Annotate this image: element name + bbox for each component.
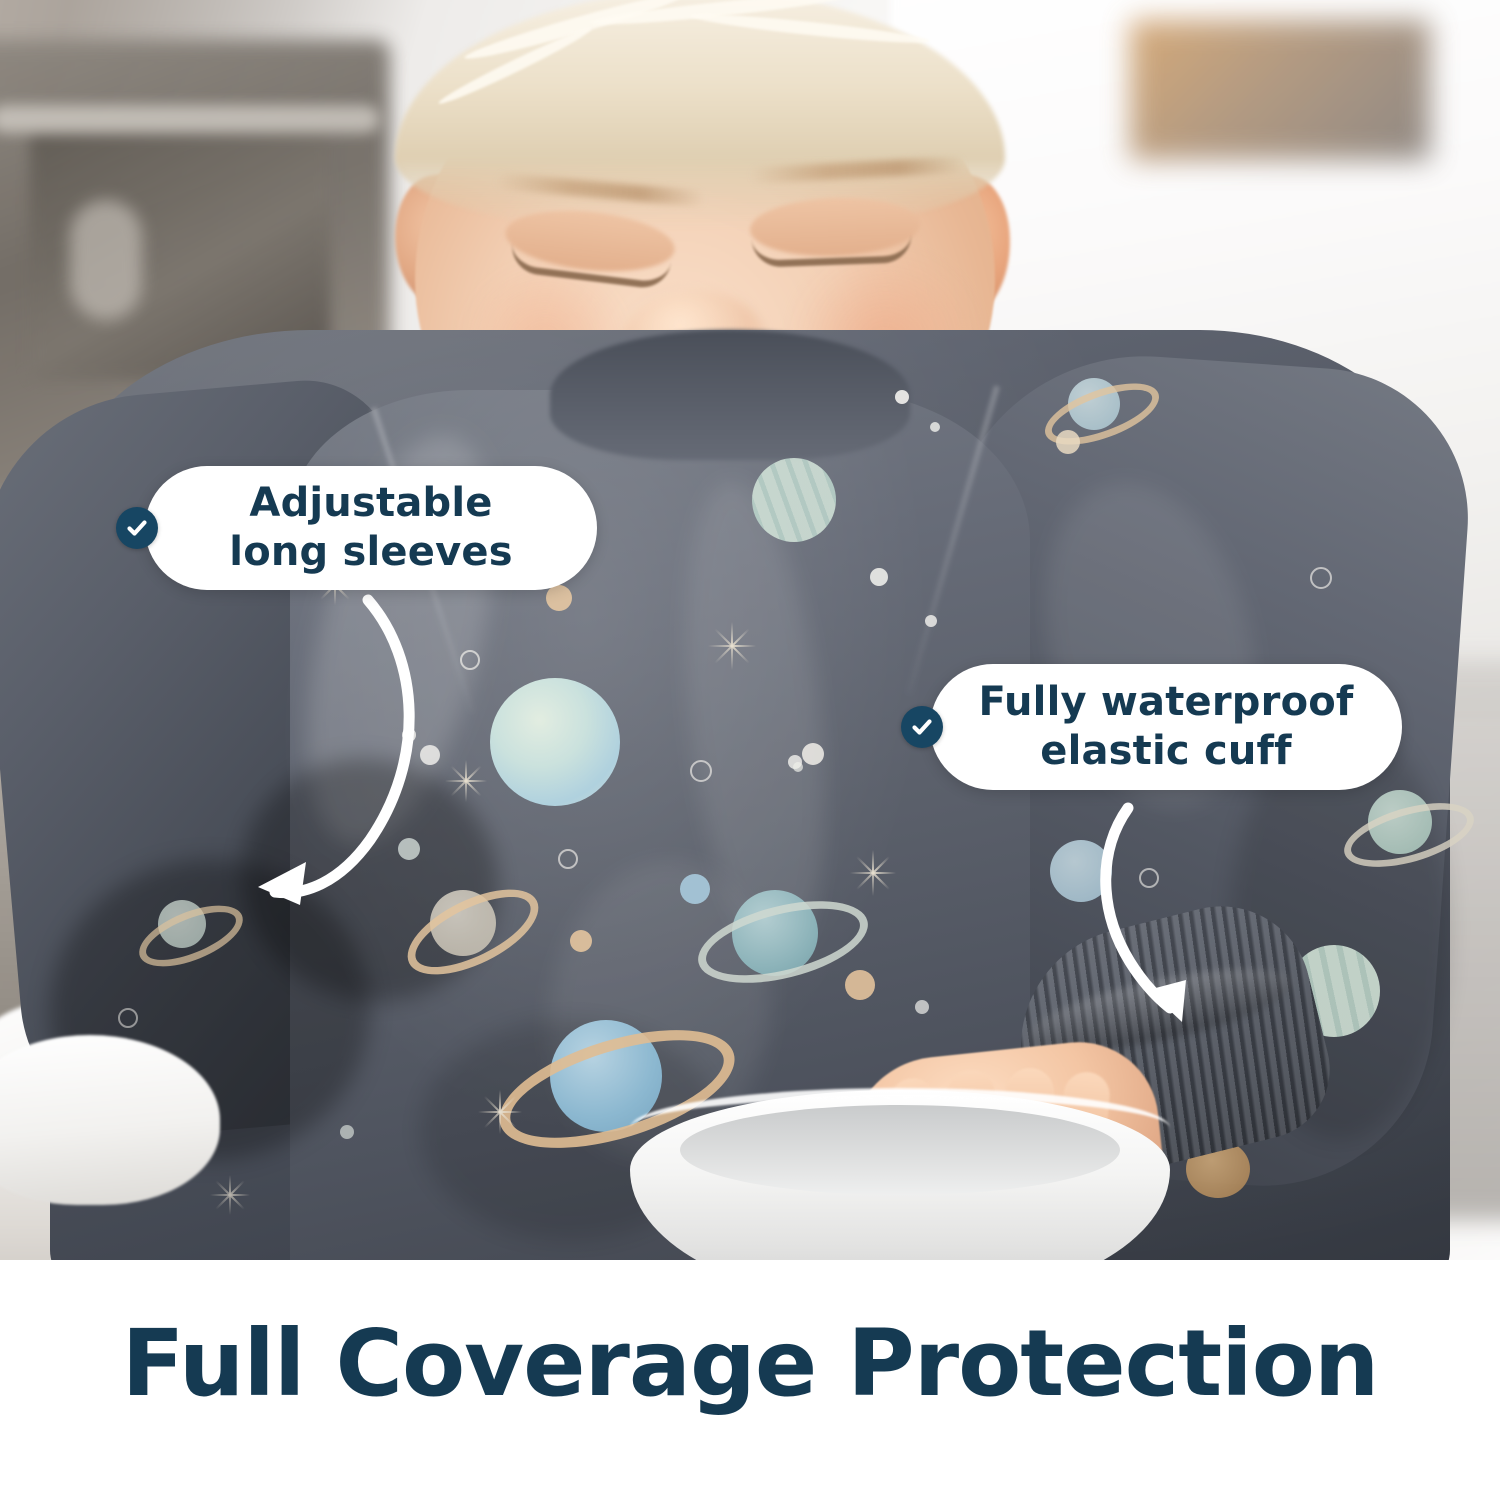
planet-small-sand bbox=[570, 930, 592, 952]
waterproof-bib bbox=[0, 0, 1500, 1260]
lifestyle-photo bbox=[0, 0, 1500, 1260]
bowl-rim bbox=[630, 1088, 1170, 1168]
headline: Full Coverage Protection bbox=[0, 1318, 1500, 1410]
dot bbox=[930, 422, 940, 432]
dot bbox=[793, 762, 803, 772]
product-feature-graphic: Adjustable long sleeves Fully waterproof… bbox=[0, 0, 1500, 1500]
bib-collar bbox=[550, 330, 910, 460]
sparkle-star bbox=[210, 1175, 250, 1215]
callout-label: Fully waterproof elastic cuff bbox=[944, 678, 1387, 776]
circle-outline bbox=[1139, 868, 1159, 888]
callout-label: Adjustable long sleeves bbox=[195, 479, 546, 577]
planet-small-sand bbox=[845, 970, 875, 1000]
sparkle-star bbox=[850, 850, 896, 896]
callout-adjustable-long-sleeves[interactable]: Adjustable long sleeves bbox=[145, 466, 597, 590]
dot bbox=[925, 615, 937, 627]
circle-outline bbox=[460, 650, 480, 670]
dot bbox=[402, 728, 416, 742]
check-circle-icon bbox=[116, 507, 158, 549]
check-circle-icon bbox=[901, 706, 943, 748]
dot-white bbox=[802, 743, 824, 765]
dot bbox=[398, 838, 420, 860]
dot bbox=[340, 1125, 354, 1139]
circle-outline bbox=[118, 1008, 138, 1028]
callout-fully-waterproof-elastic-cuff[interactable]: Fully waterproof elastic cuff bbox=[930, 664, 1402, 790]
dot bbox=[420, 745, 440, 765]
dot bbox=[870, 568, 888, 586]
dot bbox=[915, 1000, 929, 1014]
sparkle-star bbox=[445, 760, 487, 802]
circle-outline bbox=[1310, 567, 1332, 589]
sparkle-star bbox=[478, 1090, 522, 1134]
planet-cuff-blue bbox=[1050, 840, 1112, 902]
planet-large bbox=[490, 678, 620, 806]
dot-sand bbox=[1056, 430, 1080, 454]
planet-small-blue bbox=[680, 874, 710, 904]
dot bbox=[895, 390, 909, 404]
circle-outline bbox=[558, 849, 578, 869]
sparkle-star bbox=[708, 622, 756, 670]
planet-small-sand bbox=[546, 585, 572, 611]
planet-striped bbox=[752, 458, 836, 542]
circle-outline bbox=[690, 760, 712, 782]
